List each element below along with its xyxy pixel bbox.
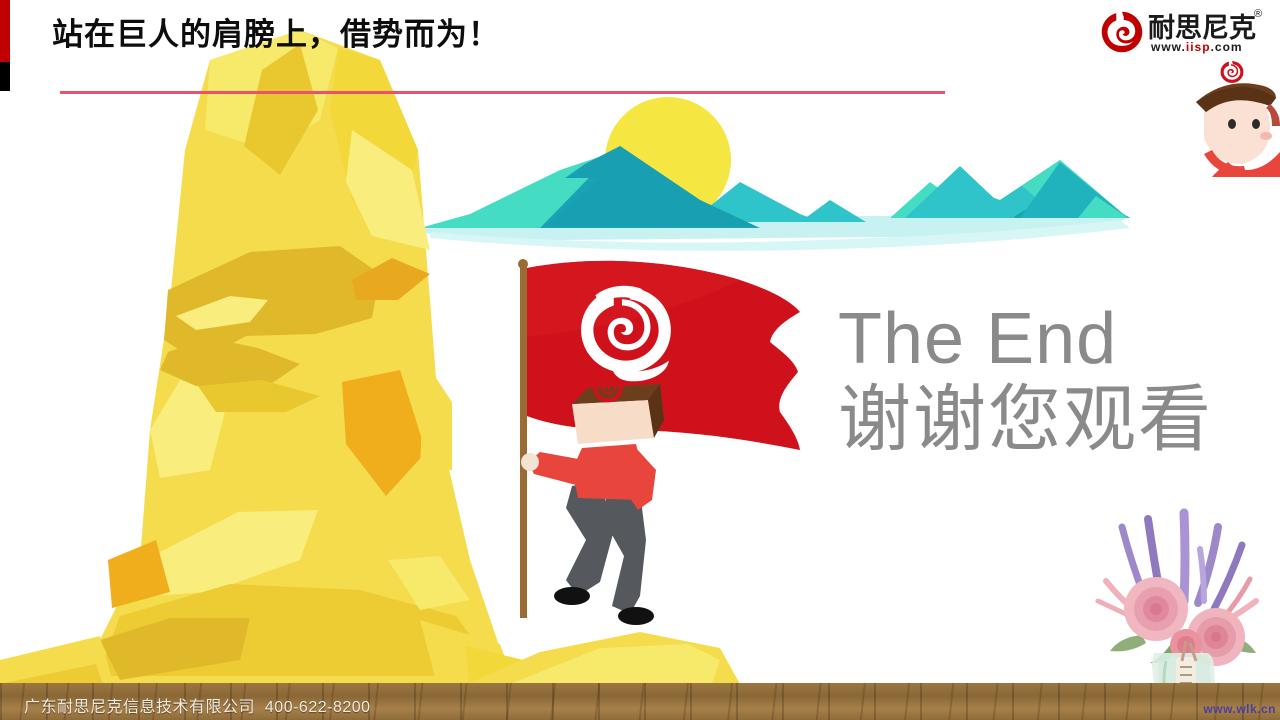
- footer-company-name: 广东耐思尼克信息技术有限公司: [24, 699, 255, 716]
- accent-bar-red: [0, 0, 10, 62]
- footer-watermark: www.wlk.cn: [1203, 702, 1276, 716]
- person-face: [572, 400, 654, 444]
- footer-wood-bar: 广东耐思尼克信息技术有限公司 400-622-8200 www.wlk.cn: [0, 683, 1280, 720]
- person-leg-right: [606, 490, 646, 614]
- slide-canvas: 站在巨人的肩膀上，借势而为！ 耐思尼克 ® www.iisp.com: [0, 0, 1280, 720]
- brand-mark-icon: [1100, 10, 1144, 54]
- flag-pole: [520, 262, 527, 618]
- person-shoe-left: [554, 587, 590, 605]
- person-hand-left: [521, 453, 539, 471]
- mascot-eye-right: [1252, 119, 1260, 129]
- mountain-secondary-b: [800, 200, 866, 222]
- person-shoe-right: [618, 607, 654, 625]
- mascot-character: [1184, 52, 1280, 177]
- footer-company-text: 广东耐思尼克信息技术有限公司 400-622-8200: [24, 693, 371, 717]
- brand-url-prefix: www.: [1151, 40, 1186, 54]
- registered-symbol: ®: [1254, 8, 1262, 20]
- flag-pole-tip: [518, 259, 528, 269]
- leaf-left: [1110, 635, 1146, 651]
- footer-phone: 400-622-8200: [265, 699, 371, 716]
- mascot-cheek: [1260, 132, 1272, 140]
- flag: [527, 261, 800, 450]
- title-divider-rule: [60, 91, 945, 94]
- end-text-chinese: 谢谢您观看: [838, 383, 1213, 456]
- end-text-english: The End: [838, 303, 1117, 375]
- page-title: 站在巨人的肩膀上，借势而为！: [52, 16, 500, 53]
- mascot-eye-left: [1228, 119, 1236, 129]
- accent-bar-black: [0, 62, 10, 91]
